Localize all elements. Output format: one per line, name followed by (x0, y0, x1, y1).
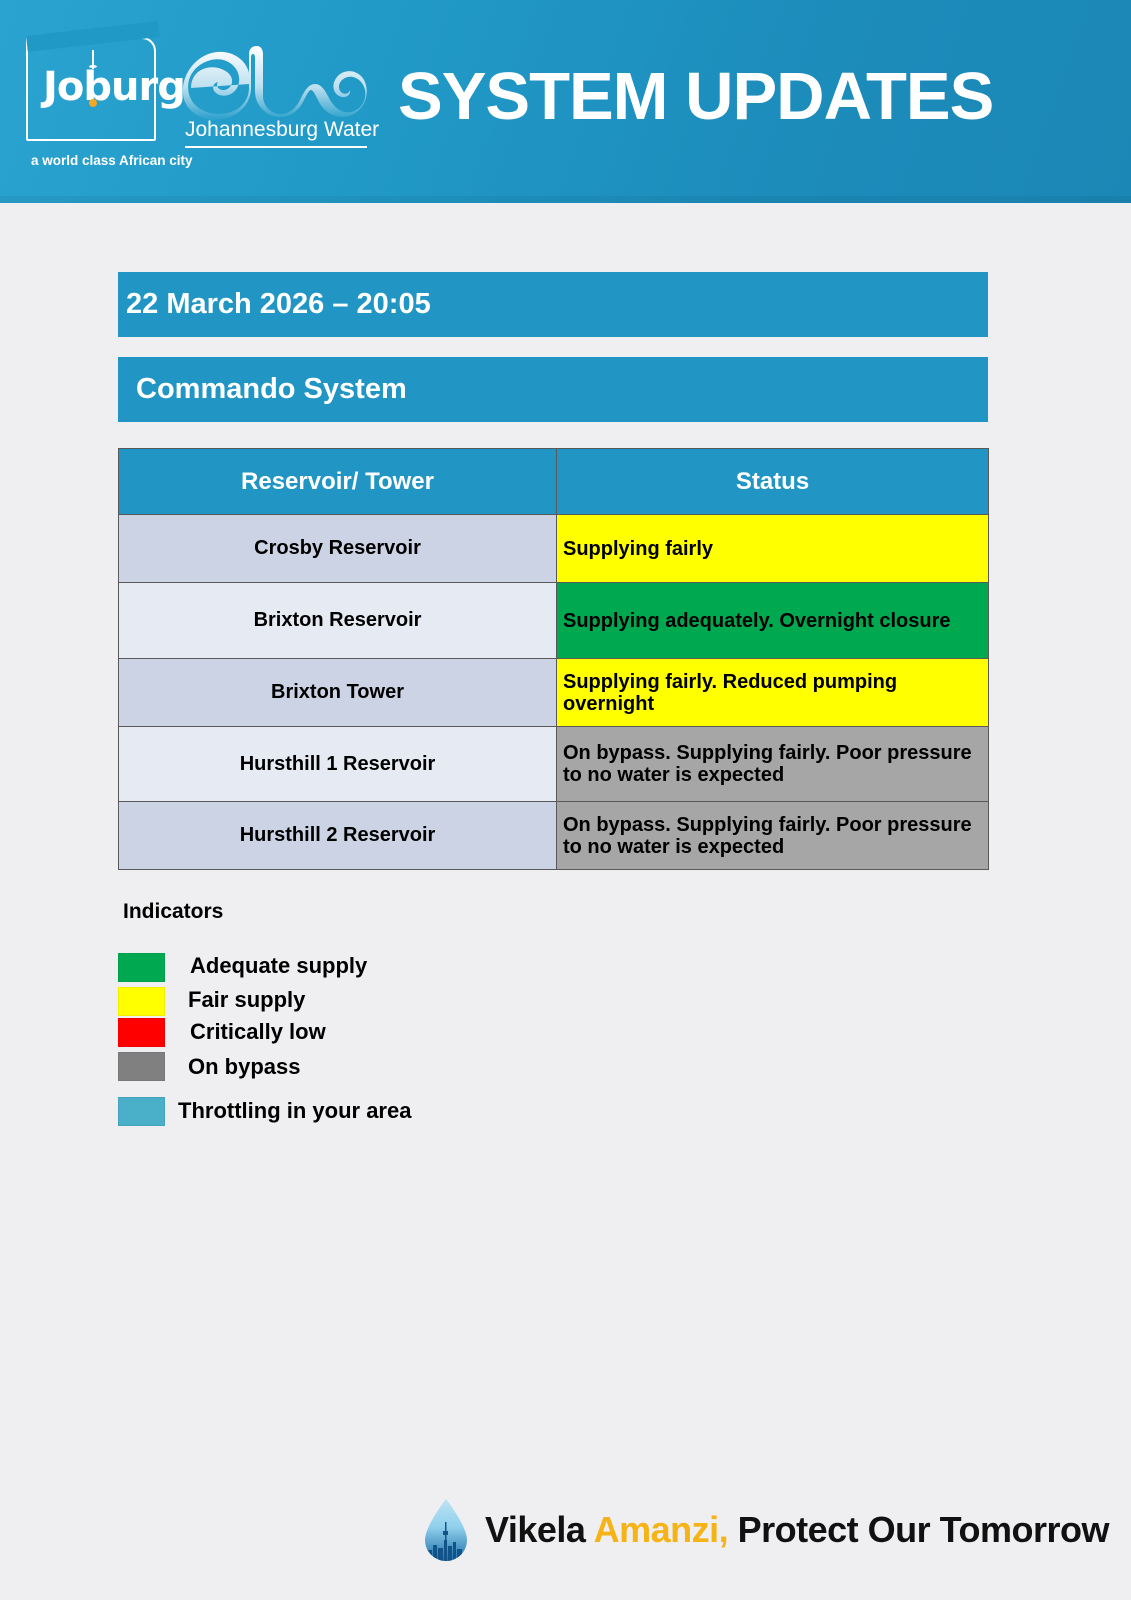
legend-item-adequate-supply: Adequate supply (118, 950, 678, 984)
legend-swatch (118, 1097, 165, 1126)
legend-item-on-bypass: On bypass (118, 1052, 678, 1086)
johannesburg-water-logo-name: Johannesburg Water (185, 118, 379, 142)
table-header-row: Reservoir/ Tower Status (119, 449, 989, 515)
table-row: Crosby Reservoir Supplying fairly (119, 515, 989, 583)
reservoir-status: Supplying fairly. Reduced pumping overni… (557, 659, 989, 727)
reservoir-name: Hursthill 2 Reservoir (119, 802, 557, 870)
reservoir-status: Supplying adequately. Overnight closure (557, 583, 989, 659)
water-drop-city-icon (423, 1498, 469, 1562)
table-row: Brixton Reservoir Supplying adequately. … (119, 583, 989, 659)
table-row: Hursthill 2 Reservoir On bypass. Supplyi… (119, 802, 989, 870)
joburg-logo-tower-icon (92, 55, 94, 69)
column-header-reservoir: Reservoir/ Tower (119, 449, 557, 515)
footer-tagline: Vikela Amanzi, Protect Our Tomorrow (485, 1509, 1109, 1551)
indicators-legend: Adequate supply Fair supply Critically l… (118, 950, 678, 1126)
legend-label: Throttling in your area (178, 1098, 411, 1124)
joburg-logo-tagline: a world class African city (31, 153, 193, 168)
system-name-text: Commando System (136, 373, 407, 406)
legend-label: Critically low (190, 1019, 326, 1045)
reservoir-status: On bypass. Supplying fairly. Poor pressu… (557, 802, 989, 870)
joburg-logo-wordmark: Joburg (43, 64, 185, 110)
reservoir-name: Hursthill 1 Reservoir (119, 727, 557, 802)
water-wave-icon (183, 44, 371, 122)
indicators-title: Indicators (123, 900, 223, 924)
reservoir-status-table: Reservoir/ Tower Status Crosby Reservoir… (118, 448, 989, 870)
legend-swatch (118, 987, 165, 1016)
date-bar: 22 March 2026 – 20:05 (118, 272, 988, 337)
legend-item-critically-low: Critically low (118, 1018, 678, 1052)
reservoir-name: Crosby Reservoir (119, 515, 557, 583)
legend-item-fair-supply: Fair supply (118, 984, 678, 1018)
joburg-logo: Joburg a world class African city (26, 33, 166, 168)
tagline-highlight: Amanzi, (594, 1509, 729, 1550)
johannesburg-water-logo: Johannesburg Water (183, 44, 371, 156)
system-name-bar: Commando System (118, 357, 988, 422)
reservoir-status: On bypass. Supplying fairly. Poor pressu… (557, 727, 989, 802)
legend-label: Fair supply (188, 987, 305, 1013)
page-title: SYSTEM UPDATES (398, 58, 1098, 135)
reservoir-name: Brixton Reservoir (119, 583, 557, 659)
tagline-part-one: Vikela (485, 1509, 594, 1550)
date-bar-text: 22 March 2026 – 20:05 (126, 288, 431, 321)
column-header-status: Status (557, 449, 989, 515)
johannesburg-water-logo-rule (185, 146, 367, 148)
legend-swatch (118, 1052, 165, 1081)
joburg-logo-dot-icon (89, 99, 97, 107)
legend-item-throttling: Throttling in your area (118, 1086, 678, 1126)
page-header: Joburg a world class African city Johann… (0, 0, 1131, 203)
legend-swatch (118, 953, 165, 982)
legend-label: Adequate supply (190, 953, 367, 979)
table-row: Brixton Tower Supplying fairly. Reduced … (119, 659, 989, 727)
page-footer: Vikela Amanzi, Protect Our Tomorrow (0, 1490, 1131, 1570)
table-row: Hursthill 1 Reservoir On bypass. Supplyi… (119, 727, 989, 802)
legend-swatch (118, 1018, 165, 1047)
reservoir-status: Supplying fairly (557, 515, 989, 583)
reservoir-name: Brixton Tower (119, 659, 557, 727)
tagline-part-two: Protect Our Tomorrow (728, 1509, 1109, 1550)
legend-label: On bypass (188, 1054, 300, 1080)
